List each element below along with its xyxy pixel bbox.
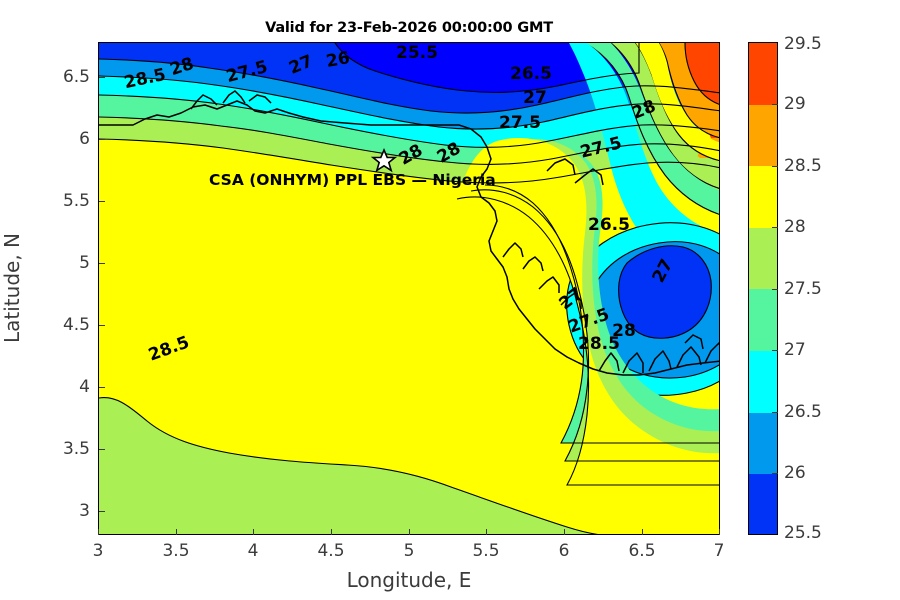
xtick-label: 3.5 [162,541,189,561]
colorbar-tick [772,104,778,105]
colorbar-tick-label: 29 [784,94,806,114]
xtick-mark [486,529,487,535]
colorbar-tick [772,412,778,413]
ytick-mark [99,139,105,140]
colorbar-band-28-28.5 [749,166,777,228]
colorbar-tick-label: 26.5 [784,402,822,422]
colorbar-tick [772,289,778,290]
contour-map-axes[interactable]: 28.5 28 27.5 27 26 25.5 26.5 27 27.5 28 … [98,42,720,535]
colorbar-tick-label: 26 [784,463,806,483]
ytick-mark [99,77,105,78]
colorbar-tick-label: 28.5 [784,156,822,176]
ytick-label: 4 [35,377,90,397]
ytick-mark [99,201,105,202]
figure-canvas: Valid for 23-Feb-2026 00:00:00 GMT [0,0,900,600]
colorbar-band-27-27.5 [749,289,777,351]
contour-label: 26.5 [588,215,630,235]
colorbar-tick [772,227,778,228]
ytick-label: 6 [35,129,90,149]
xtick-mark [98,529,99,535]
colorbar-tick-label: 27 [784,340,806,360]
contour-label: 27.5 [499,113,541,133]
ytick-label: 4.5 [35,315,90,335]
ytick-label: 5.5 [35,191,90,211]
colorbar-tick-label: 29.5 [784,34,822,54]
ytick-label: 6.5 [35,67,90,87]
contour-label: 27 [523,88,547,108]
colorbar-band-26.5-27 [749,351,777,413]
colorbar-tick-label: 27.5 [784,279,822,299]
site-annotation: CSA (ONHYM) PPL EBS — Nigeria [209,171,496,189]
page-title: Valid for 23-Feb-2026 00:00:00 GMT [98,20,720,36]
colorbar-tick-label: 25.5 [784,523,822,543]
colorbar-band-26-26.5 [749,413,777,475]
xtick-label: 6 [559,541,570,561]
ytick-label: 5 [35,253,90,273]
ytick-label: 3.5 [35,439,90,459]
xtick-label: 5 [404,541,415,561]
colorbar-band-25.5-26 [749,474,777,535]
xtick-mark [564,529,565,535]
x-axis-title: Longitude, E [98,568,720,592]
xtick-label: 4 [248,541,259,561]
xtick-mark [642,529,643,535]
xtick-mark [719,529,720,535]
xtick-mark [409,529,410,535]
y-axis-title: Latitude, N [0,188,24,388]
colorbar-tick [772,350,778,351]
colorbar-band-29-29.5 [749,43,777,105]
ytick-mark [99,325,105,326]
colorbar-band-28.5-29 [749,105,777,167]
contour-label: 26 [325,48,352,72]
contour-label: 26.5 [510,64,552,84]
colorbar-tick-label: 28 [784,217,806,237]
ytick-mark [99,387,105,388]
xtick-label: 4.5 [317,541,344,561]
ytick-mark [99,449,105,450]
contour-label: 25.5 [396,43,438,63]
colorbar-band-27.5-28 [749,228,777,290]
xtick-mark [331,529,332,535]
xtick-label: 3 [93,541,104,561]
xtick-label: 7 [714,541,725,561]
ytick-mark [99,511,105,512]
xtick-label: 5.5 [472,541,499,561]
ytick-mark [99,263,105,264]
xtick-mark [176,529,177,535]
colorbar-tick [772,473,778,474]
contour-field [99,43,720,535]
xtick-mark [253,529,254,535]
colorbar-tick [772,166,778,167]
xtick-label: 6.5 [628,541,655,561]
ytick-label: 3 [35,501,90,521]
contour-label: 28.5 [578,334,620,354]
